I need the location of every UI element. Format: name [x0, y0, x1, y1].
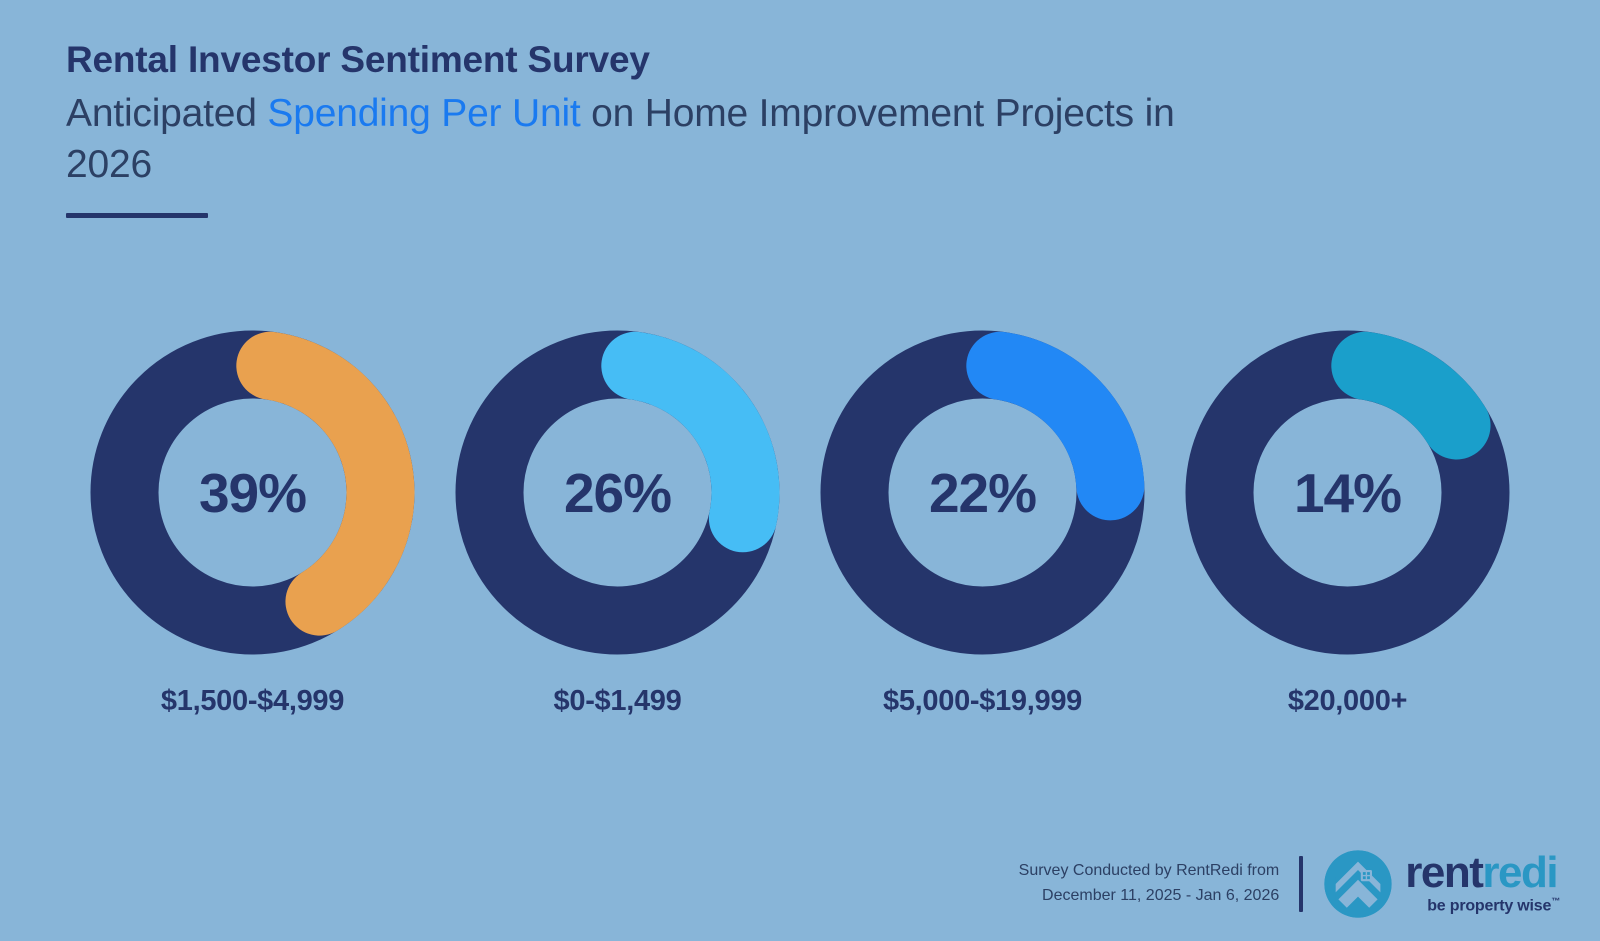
survey-credit-line-1: Survey Conducted by RentRedi from	[1019, 859, 1280, 884]
donut-value-1: 39%	[90, 330, 415, 655]
donut-value-2: 26%	[455, 330, 780, 655]
page-subtitle: Anticipated Spending Per Unit on Home Im…	[66, 88, 1186, 191]
page-title: Rental Investor Sentiment Survey	[66, 38, 1266, 82]
donut-label-4: $20,000+	[1288, 685, 1407, 718]
header: Rental Investor Sentiment Survey Anticip…	[66, 38, 1266, 218]
survey-credit-line-2: December 11, 2025 - Jan 6, 2026	[1019, 884, 1280, 909]
logo-tagline-text: be property wise	[1427, 898, 1551, 915]
donut-chart-row: 39% $1,500-$4,999 26% $0-$1,499	[0, 330, 1600, 718]
donut-label-3: $5,000-$19,999	[883, 685, 1082, 718]
footer: Survey Conducted by RentRedi from Decemb…	[1019, 849, 1560, 919]
donut-value-3: 22%	[820, 330, 1145, 655]
footer-divider	[1299, 856, 1303, 912]
rentredi-wordmark: rentredi be property wise™	[1405, 852, 1560, 915]
infographic-canvas: Rental Investor Sentiment Survey Anticip…	[0, 0, 1600, 941]
rentredi-logo-mark-icon	[1323, 849, 1393, 919]
subtitle-highlight: Spending Per Unit	[267, 92, 580, 135]
donut-chart-1: 39%	[90, 330, 415, 655]
rentredi-logo: rentredi be property wise™	[1323, 849, 1560, 919]
donut-chart-3: 22%	[820, 330, 1145, 655]
donut-label-1: $1,500-$4,999	[161, 685, 344, 718]
logo-trademark-symbol: ™	[1551, 896, 1560, 906]
donut-label-2: $0-$1,499	[554, 685, 682, 718]
donut-chart-item: 22% $5,000-$19,999	[800, 330, 1165, 718]
donut-chart-2: 26%	[455, 330, 780, 655]
donut-value-4: 14%	[1185, 330, 1510, 655]
logo-word-redi: redi	[1482, 848, 1557, 897]
subtitle-part-1: Anticipated	[66, 92, 267, 135]
donut-chart-4: 14%	[1185, 330, 1510, 655]
donut-chart-item: 26% $0-$1,499	[435, 330, 800, 718]
donut-chart-item: 14% $20,000+	[1165, 330, 1530, 718]
survey-credit: Survey Conducted by RentRedi from Decemb…	[1019, 859, 1280, 909]
donut-chart-item: 39% $1,500-$4,999	[70, 330, 435, 718]
logo-word-rent: rent	[1405, 848, 1482, 897]
logo-tagline: be property wise™	[1427, 896, 1560, 915]
title-underline-rule	[66, 213, 208, 218]
logo-word: rentredi	[1405, 852, 1557, 894]
